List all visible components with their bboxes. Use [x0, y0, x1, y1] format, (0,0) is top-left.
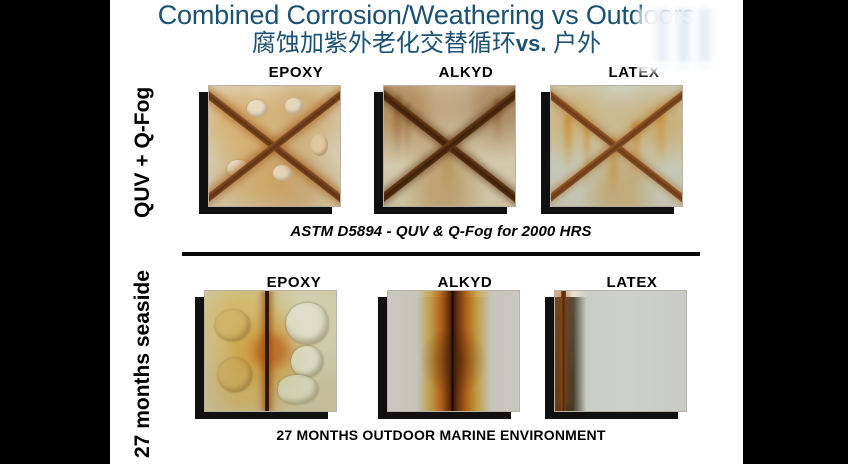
blister: [215, 310, 249, 341]
panel-plate: [554, 290, 687, 412]
blister: [291, 346, 322, 377]
video-player-frame: Combined Corrosion/Weathering vs Outdoor…: [0, 0, 848, 464]
panel-header-bottom-alkyd: ALKYD: [419, 274, 511, 291]
specimen-top-latex: [541, 92, 674, 214]
specimen-bottom-latex: [545, 297, 678, 419]
blister: [286, 303, 328, 344]
blister: [218, 358, 252, 392]
caption-marine-environment: 27 MONTHS OUTDOOR MARINE ENVIRONMENT: [182, 427, 700, 443]
panel-surface: [555, 291, 686, 411]
row-divider: [182, 252, 700, 256]
letterbox-left: [0, 0, 110, 464]
subtitle-vs: vs.: [516, 31, 547, 56]
panel-header-bottom-latex: LATEX: [586, 274, 678, 291]
watermark-blur-overlay: [637, 8, 743, 70]
panel-plate: [204, 290, 337, 412]
panel-header-top-alkyd: ALKYD: [420, 64, 512, 81]
specimen-top-alkyd: [374, 92, 507, 214]
specimen-bottom-alkyd: [378, 297, 511, 419]
row-label-27-months-seaside: 27 months seaside: [131, 270, 155, 458]
panel-plate: [387, 290, 520, 412]
panel-plate: [208, 85, 341, 207]
blister: [278, 375, 317, 404]
specimen-bottom-epoxy: [195, 297, 328, 419]
panel-plate: [550, 85, 683, 207]
blister: [311, 134, 328, 156]
rust-streak: [564, 115, 572, 175]
scribe-line: [451, 290, 454, 412]
row-label-quv-qfog: QUV + Q-Fog: [131, 87, 155, 218]
subtitle-chinese-lead: 腐蚀加紫外老化交替循环: [252, 30, 516, 57]
caption-astm-quv: ASTM D5894 - QUV & Q-Fog for 2000 HRS: [182, 223, 700, 240]
specimen-top-epoxy: [199, 92, 332, 214]
panel-header-bottom-epoxy: EPOXY: [248, 274, 340, 291]
scribe-line: [561, 290, 566, 412]
panel-header-top-epoxy: EPOXY: [250, 64, 342, 81]
panel-plate: [383, 85, 516, 207]
letterbox-right: [743, 0, 848, 464]
scribe-line: [265, 290, 269, 412]
presentation-slide: Combined Corrosion/Weathering vs Outdoor…: [0, 0, 848, 464]
subtitle-chinese-tail: 户外: [553, 30, 601, 57]
